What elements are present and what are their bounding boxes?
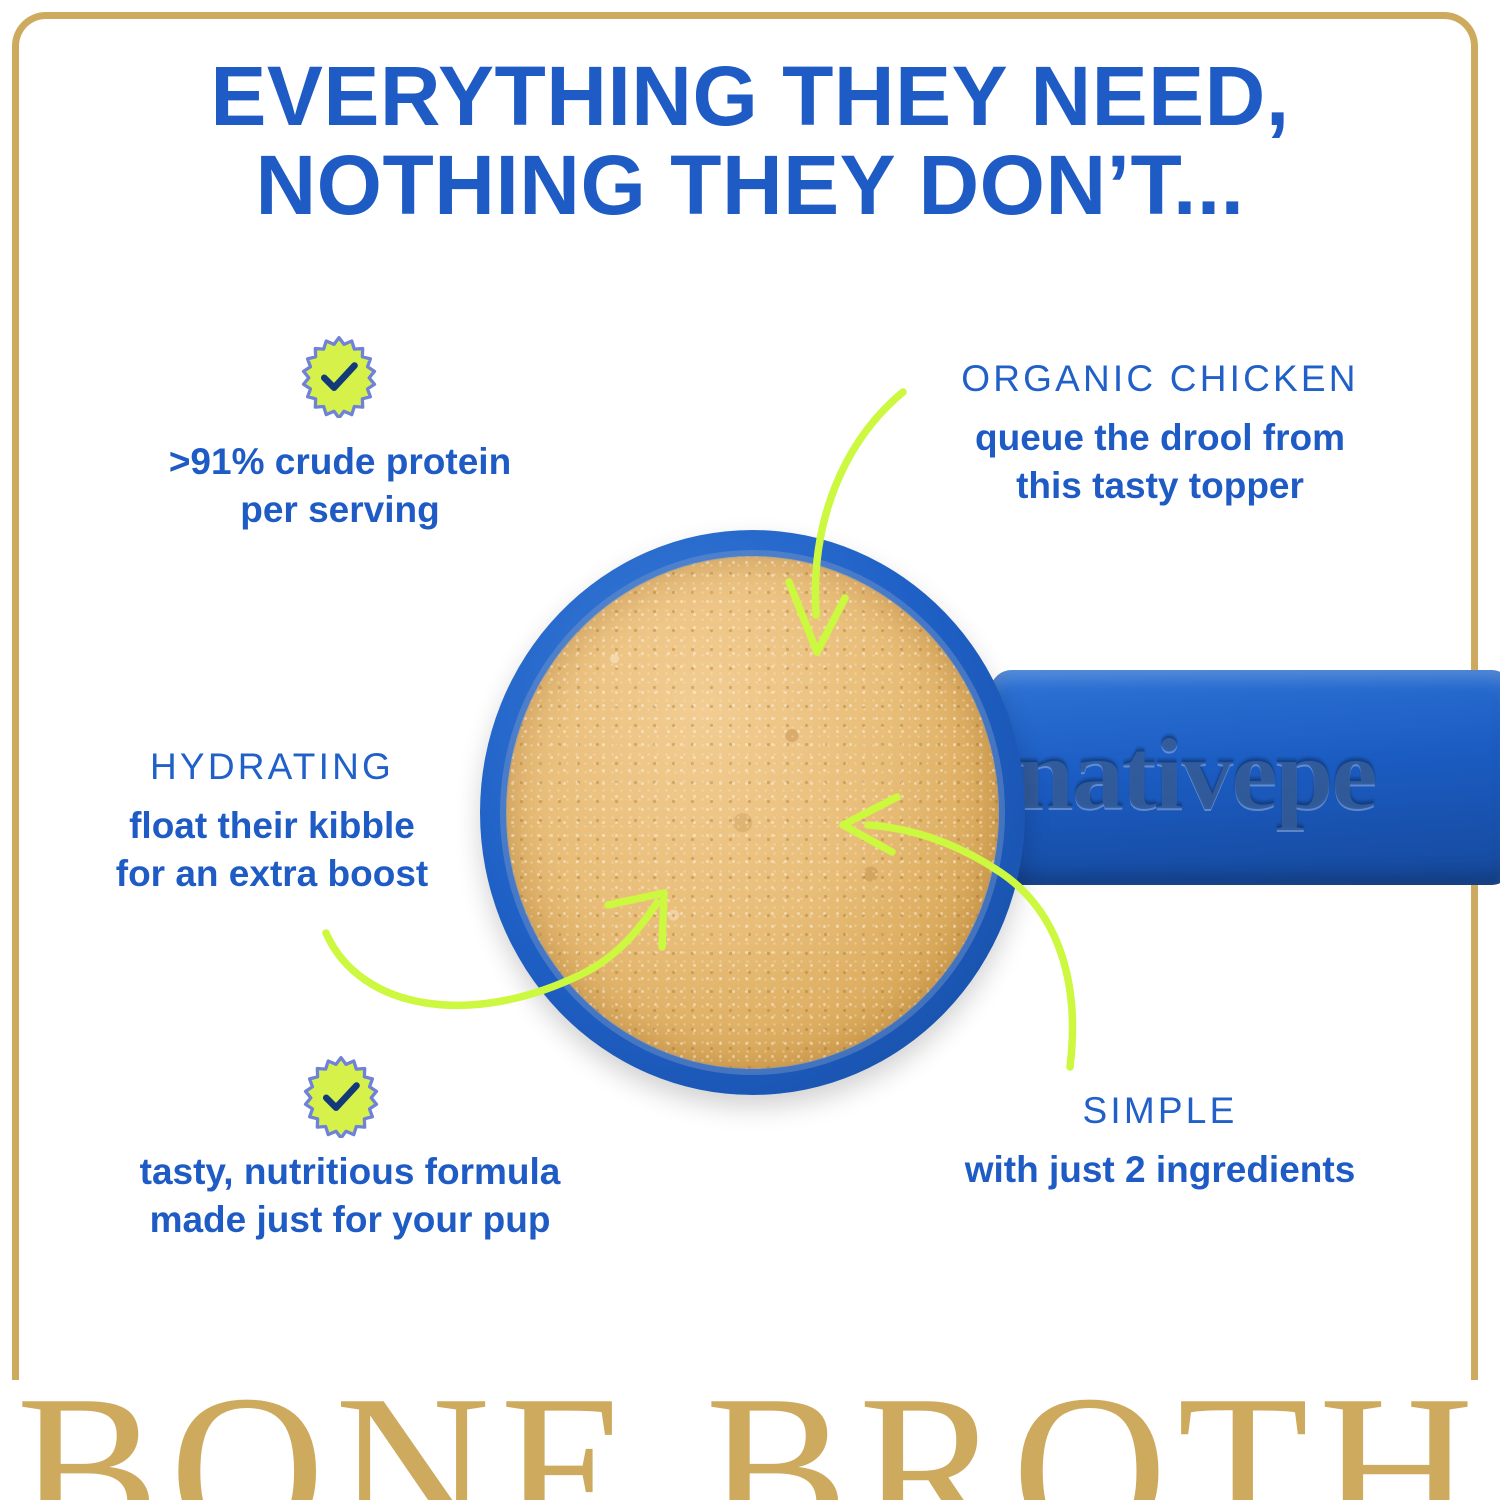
scoop-bowl [480, 530, 1025, 1095]
feature-formula-line-2: made just for your pup [80, 1196, 620, 1244]
feature-organic-chicken-title: ORGANIC CHICKEN [910, 356, 1410, 402]
product-image-scoop: nativepe [470, 510, 1500, 1110]
feature-protein-line-1: >91% crude protein [90, 438, 590, 486]
feature-hydrating-line-2: for an extra boost [52, 850, 492, 898]
feature-simple-line-1: with just 2 ingredients [930, 1146, 1390, 1194]
scoop-handle: nativepe [990, 670, 1500, 885]
feature-protein: >91% crude protein per serving [90, 438, 590, 534]
check-badge-icon [298, 336, 380, 418]
feature-simple: SIMPLE with just 2 ingredients [930, 1088, 1390, 1194]
headline-line-2: NOTHING THEY DON’T... [0, 141, 1500, 230]
feature-formula: tasty, nutritious formula made just for … [80, 1148, 620, 1244]
feature-hydrating-title: HYDRATING [52, 744, 492, 790]
feature-formula-line-1: tasty, nutritious formula [80, 1148, 620, 1196]
brand-emboss-text: nativepe [1016, 722, 1376, 826]
feature-organic-chicken: ORGANIC CHICKEN queue the drool from thi… [910, 356, 1410, 510]
feature-organic-chicken-line-1: queue the drool from [910, 414, 1410, 462]
feature-hydrating: HYDRATING float their kibble for an extr… [52, 744, 492, 898]
headline-line-1: EVERYTHING THEY NEED, [0, 52, 1500, 141]
feature-organic-chicken-line-2: this tasty topper [910, 462, 1410, 510]
product-name-banner: BONE BROTH [0, 1362, 1500, 1500]
feature-protein-line-2: per serving [90, 486, 590, 534]
product-infographic: EVERYTHING THEY NEED, NOTHING THEY DON’T… [0, 0, 1500, 1500]
feature-simple-title: SIMPLE [930, 1088, 1390, 1134]
check-badge-icon [300, 1056, 382, 1138]
page-title: EVERYTHING THEY NEED, NOTHING THEY DON’T… [0, 52, 1500, 230]
bone-broth-powder [506, 556, 999, 1069]
feature-hydrating-line-1: float their kibble [52, 802, 492, 850]
